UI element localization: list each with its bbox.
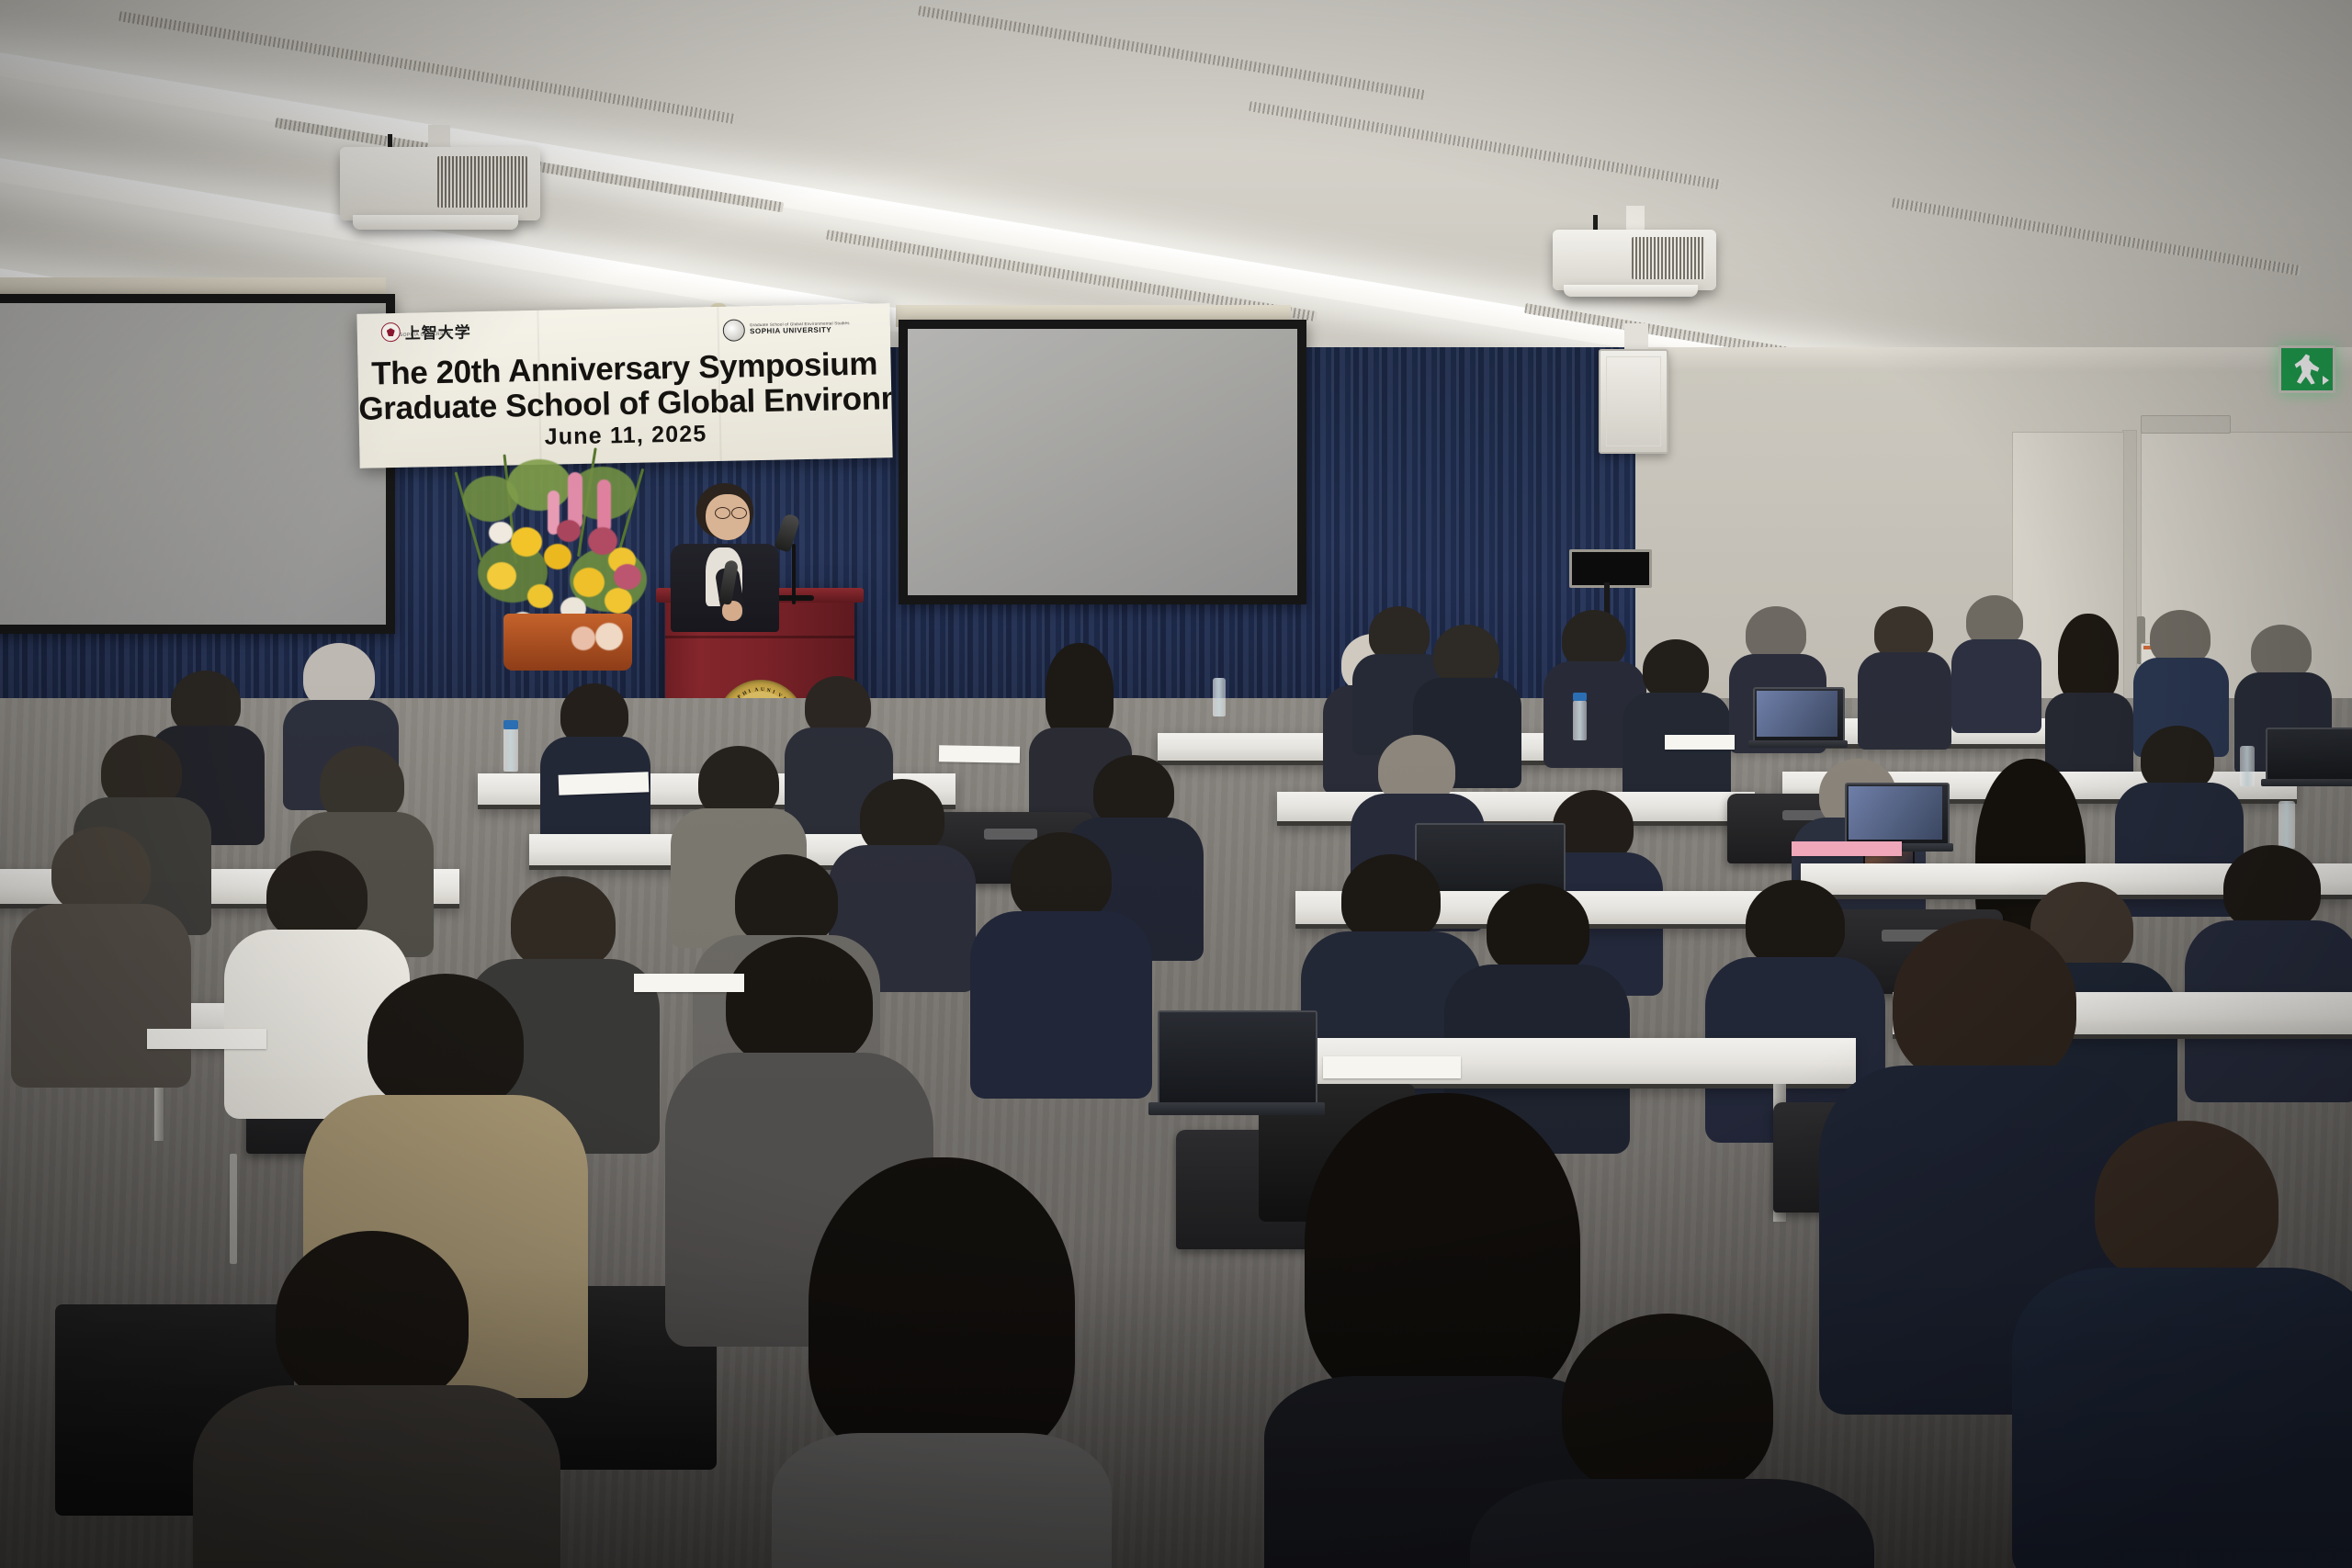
ceiling-vent [918, 6, 1427, 100]
program-paper[interactable] [939, 745, 1020, 763]
program-paper[interactable] [634, 974, 744, 992]
bottle-cap [1573, 693, 1587, 701]
ceiling-vent [1249, 101, 1722, 190]
chair-leg [230, 1154, 237, 1264]
water-bottle[interactable] [1573, 700, 1587, 740]
confidence-monitor [1569, 549, 1652, 588]
program-paper[interactable] [559, 772, 650, 795]
presenter [665, 483, 785, 630]
program-paper[interactable] [147, 1029, 266, 1049]
water-bottle[interactable] [1213, 678, 1226, 716]
bottle-cap [503, 720, 518, 729]
running-person-icon [2293, 354, 2320, 384]
podium-trim [665, 636, 854, 638]
right-wall-beam [1635, 347, 2352, 373]
desk-row-b3 [1277, 792, 1755, 826]
water-bottle[interactable] [2240, 746, 2255, 786]
screen-surface [0, 303, 386, 625]
gses-logo-line2: SOPHIA UNIVERSITY [750, 326, 850, 336]
water-bottle[interactable] [503, 728, 518, 772]
speaker-mount [1624, 323, 1648, 351]
screen-surface [908, 329, 1297, 595]
symposium-banner: 上智大学 SOPHIA UNIVERSITY Graduate School o… [356, 303, 892, 468]
exit-sign [2278, 345, 2335, 393]
projection-screen-right[interactable] [899, 320, 1306, 604]
gses-logo: Graduate School of Global Environmental … [723, 317, 850, 342]
program-paper[interactable] [1665, 735, 1735, 750]
symposium-photograph: 上智大学 SOPHIA UNIVERSITY Graduate School o… [0, 0, 2352, 1568]
flower-arrangement [459, 459, 680, 671]
program-paper[interactable] [1323, 1056, 1461, 1078]
logo-english-text: SOPHIA UNIVERSITY [400, 332, 452, 338]
projection-screen-left[interactable] [0, 294, 395, 634]
pink-notebook[interactable] [1792, 841, 1902, 856]
wall-speaker [1599, 349, 1668, 454]
ceiling-vent [1892, 197, 2301, 276]
sophia-crest-icon [381, 322, 401, 342]
gses-mark-icon [723, 319, 745, 341]
exit-arrow-icon [2323, 376, 2329, 385]
water-bottle[interactable] [2278, 801, 2295, 849]
door-closer-icon [2141, 415, 2231, 434]
